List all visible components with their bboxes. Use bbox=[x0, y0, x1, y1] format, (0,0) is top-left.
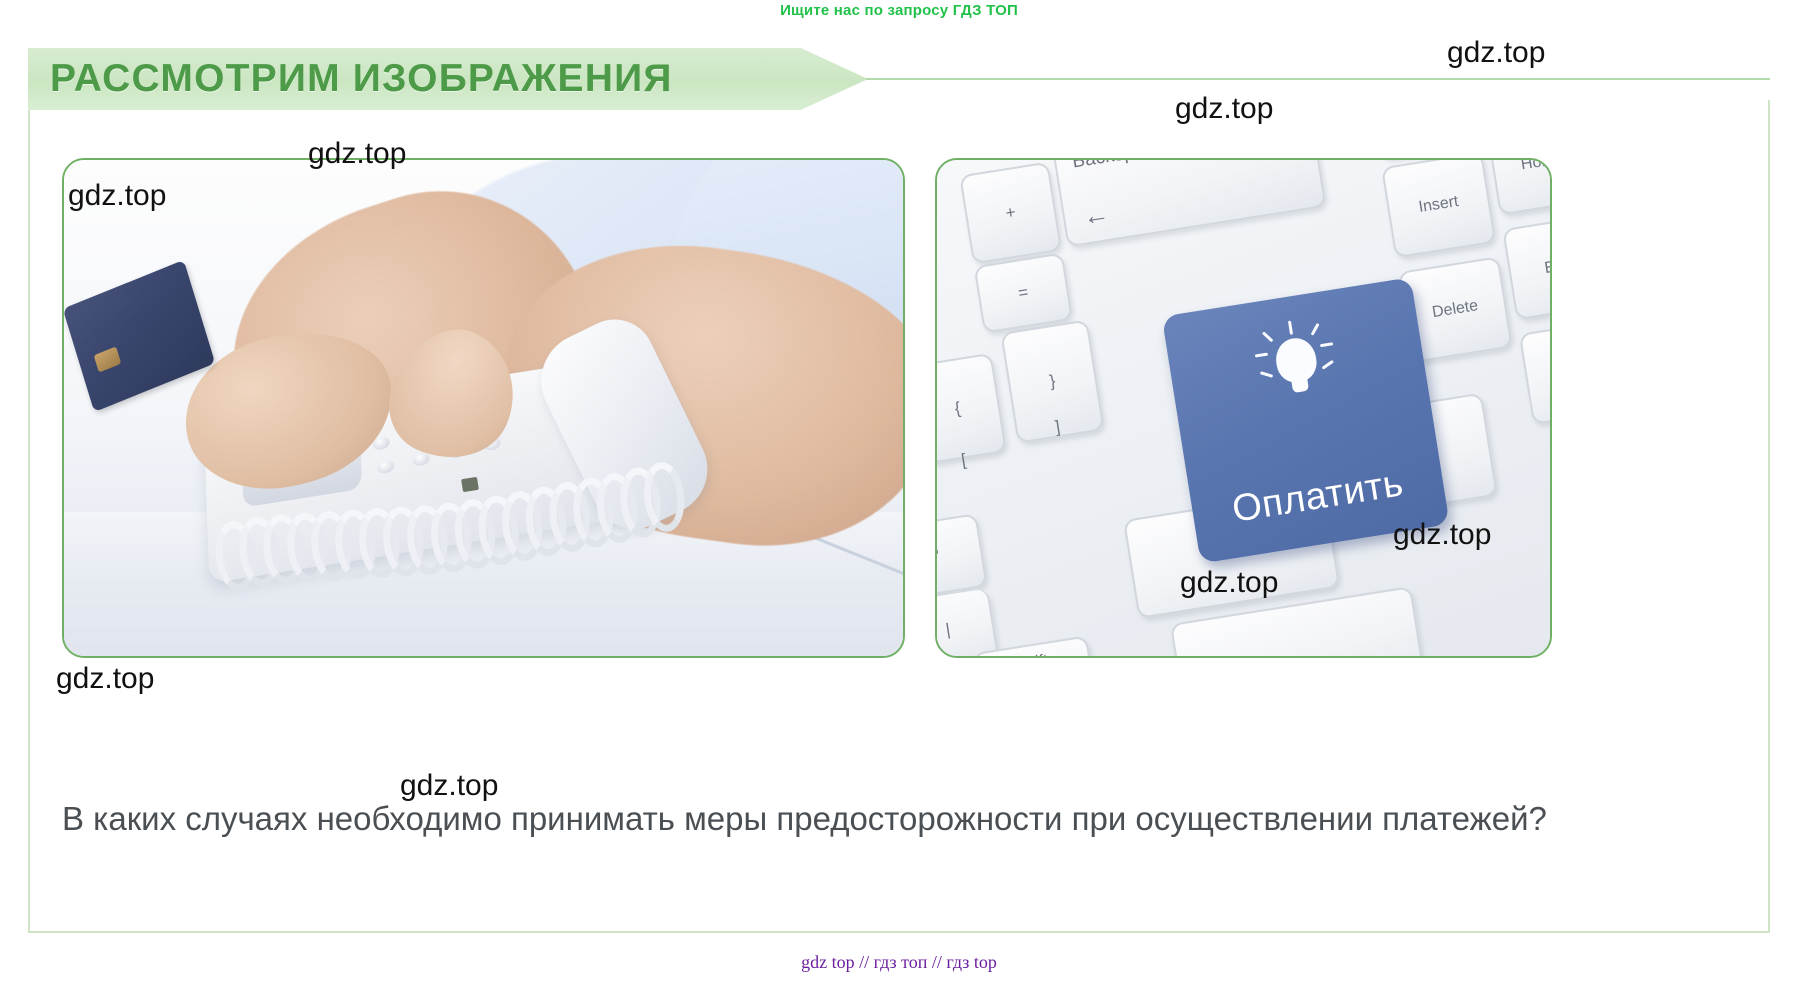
phone-scene bbox=[64, 160, 903, 656]
banner-shape: РАССМОТРИМ ИЗОБРАЖЕНИЯ bbox=[28, 48, 868, 110]
key-plus: + bbox=[959, 162, 1062, 265]
photo-keyboard-pay-key: + = Backspace ← SysRq Insert Home Delete… bbox=[935, 158, 1552, 658]
key-quote: " bbox=[935, 513, 988, 600]
promo-banner-text: Ищите нас по запросу ГДЗ ТОП bbox=[0, 2, 1798, 19]
photo-phone-payment bbox=[62, 158, 905, 658]
question-text: В каких случаях необходимо принимать мер… bbox=[62, 795, 1562, 842]
key-equals: = bbox=[974, 252, 1074, 333]
banner-title: РАССМОТРИМ ИЗОБРАЖЕНИЯ bbox=[28, 57, 673, 101]
key-end: End bbox=[1502, 214, 1552, 321]
card-chip bbox=[94, 346, 122, 372]
pay-key-label: Оплатить bbox=[1190, 456, 1446, 538]
keyboard-scene: + = Backspace ← SysRq Insert Home Delete… bbox=[937, 160, 1550, 656]
pay-key[interactable]: Оплатить bbox=[1162, 277, 1450, 563]
footer-text: gdz top // гдз топ // гдз top bbox=[0, 952, 1798, 973]
bank-card bbox=[63, 260, 216, 412]
key-pipe: | bbox=[935, 588, 999, 658]
section-header-banner: РАССМОТРИМ ИЗОБРАЖЕНИЯ bbox=[28, 48, 868, 110]
keyboard: + = Backspace ← SysRq Insert Home Delete… bbox=[935, 158, 1552, 658]
key-insert: Insert bbox=[1381, 158, 1496, 258]
key-arrow-up: ↑ bbox=[1519, 318, 1552, 425]
lightbulb-icon bbox=[1260, 326, 1333, 399]
key-bracket-close: ] bbox=[1009, 373, 1107, 481]
watermark: gdz.top bbox=[1447, 36, 1545, 70]
banner-trailing-rule bbox=[866, 78, 1770, 80]
key-home: Home bbox=[1486, 158, 1552, 215]
key-backspace-arrow: ← bbox=[1051, 158, 1326, 248]
photo-row: + = Backspace ← SysRq Insert Home Delete… bbox=[62, 158, 1552, 658]
